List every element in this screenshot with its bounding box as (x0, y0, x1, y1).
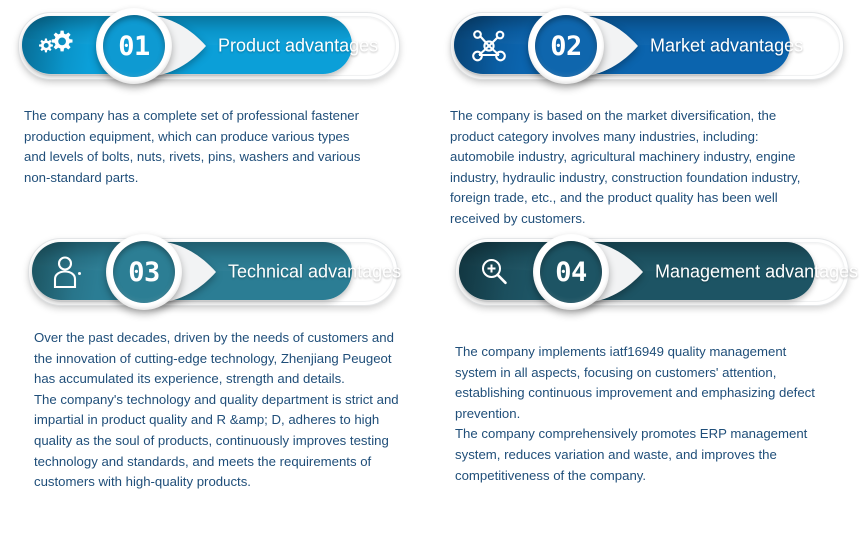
number-badge-inner: 04 (540, 241, 602, 303)
card-title: Product advantages (218, 36, 378, 57)
number-badge: 01 (96, 8, 172, 84)
number-badge: 03 (106, 234, 182, 310)
number-badge-inner: 02 (535, 15, 597, 77)
card-body-text: The company implements iatf16949 quality… (455, 342, 815, 486)
number-badge: 04 (533, 234, 609, 310)
number-badge-label: 01 (118, 33, 150, 60)
number-badge-label: 03 (128, 259, 160, 286)
number-badge-label: 02 (550, 33, 582, 60)
card-body-text: Over the past decades, driven by the nee… (34, 328, 406, 493)
number-badge-inner: 01 (103, 15, 165, 77)
card-body-text: The company is based on the market diver… (450, 106, 806, 230)
number-badge-label: 04 (555, 259, 587, 286)
zoom-in-icon (473, 253, 515, 291)
card-title: Management advantages (655, 262, 858, 283)
number-badge-inner: 03 (113, 241, 175, 303)
card-header-bar[interactable]: 02 Market advantages (450, 6, 862, 86)
advantage-card-3: 03 Technical advantages Over the past de… (28, 232, 440, 312)
advantage-card-1: 01 Product advantages The company has a … (18, 6, 430, 86)
advantages-grid: 01 Product advantages The company has a … (0, 0, 864, 540)
number-badge: 02 (528, 8, 604, 84)
card-header-bar[interactable]: 04 Management advantages (455, 232, 864, 312)
card-title: Market advantages (650, 36, 803, 57)
card-header-bar[interactable]: 03 Technical advantages (28, 232, 440, 312)
card-title: Technical advantages (228, 262, 401, 283)
person-icon (46, 253, 88, 291)
molecule-icon (468, 27, 510, 65)
gears-icon (36, 27, 78, 65)
card-body-text: The company has a complete set of profes… (24, 106, 364, 188)
advantage-card-4: 04 Management advantages The company imp… (455, 232, 864, 312)
advantage-card-2: 02 Market advantages The company is base… (450, 6, 862, 86)
card-header-bar[interactable]: 01 Product advantages (18, 6, 430, 86)
